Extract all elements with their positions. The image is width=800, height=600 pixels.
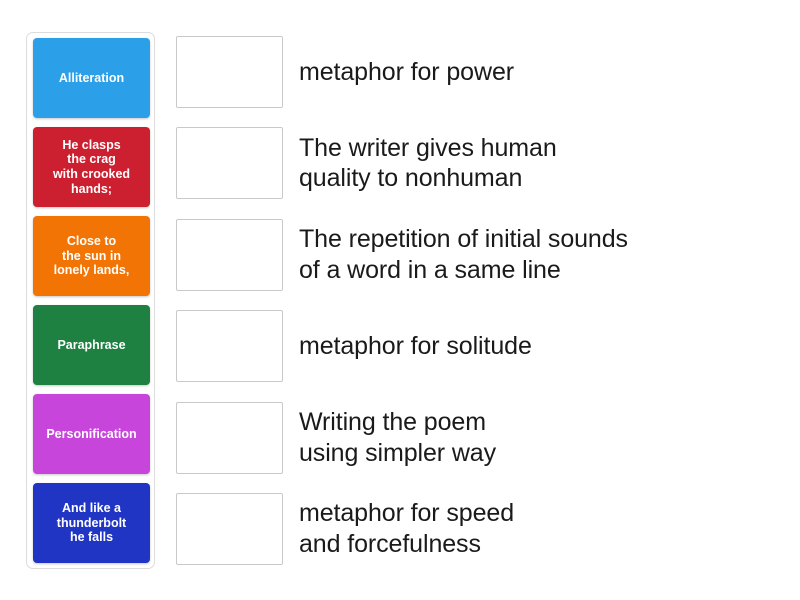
tile-label: Alliteration — [38, 71, 145, 86]
answer-text-6: metaphor for speed and forcefulness — [299, 498, 786, 559]
answer-row: The repetition of initial sounds of a wo… — [176, 215, 786, 295]
answer-row: The writer gives human quality to nonhum… — [176, 123, 786, 203]
tile-label: Personification — [38, 427, 145, 442]
draggable-tile-and-like-a-thunderbolt[interactable]: And like a thunderbolt he falls — [33, 483, 150, 563]
answer-dropzone-4[interactable] — [176, 310, 283, 382]
answer-text-2: The writer gives human quality to nonhum… — [299, 133, 786, 194]
answer-row: Writing the poem using simpler way — [176, 398, 786, 478]
draggable-tile-he-clasps[interactable]: He clasps the crag with crooked hands; — [33, 127, 150, 207]
tile-label: Paraphrase — [38, 338, 145, 353]
answer-dropzone-5[interactable] — [176, 402, 283, 474]
answer-dropzone-1[interactable] — [176, 36, 283, 108]
answer-dropzone-3[interactable] — [176, 219, 283, 291]
draggable-tiles-panel: Alliteration He clasps the crag with cro… — [26, 32, 155, 569]
match-up-activity: Alliteration He clasps the crag with cro… — [0, 0, 800, 600]
answer-dropzone-6[interactable] — [176, 493, 283, 565]
answer-dropzone-2[interactable] — [176, 127, 283, 199]
answer-text-3: The repetition of initial sounds of a wo… — [299, 224, 786, 285]
draggable-tile-close-to-the-sun[interactable]: Close to the sun in lonely lands, — [33, 216, 150, 296]
answer-text-4: metaphor for solitude — [299, 331, 786, 362]
answer-text-1: metaphor for power — [299, 57, 786, 88]
draggable-tile-personification[interactable]: Personification — [33, 394, 150, 474]
tile-label: He clasps the crag with crooked hands; — [38, 138, 145, 197]
answer-row: metaphor for speed and forcefulness — [176, 489, 786, 569]
answer-text-5: Writing the poem using simpler way — [299, 407, 786, 468]
draggable-tile-paraphrase[interactable]: Paraphrase — [33, 305, 150, 385]
answer-row: metaphor for solitude — [176, 306, 786, 386]
tile-label: Close to the sun in lonely lands, — [38, 234, 145, 278]
draggable-tile-alliteration[interactable]: Alliteration — [33, 38, 150, 118]
tile-label: And like a thunderbolt he falls — [38, 501, 145, 545]
answers-panel: metaphor for power The writer gives huma… — [176, 32, 786, 569]
answer-row: metaphor for power — [176, 32, 786, 112]
